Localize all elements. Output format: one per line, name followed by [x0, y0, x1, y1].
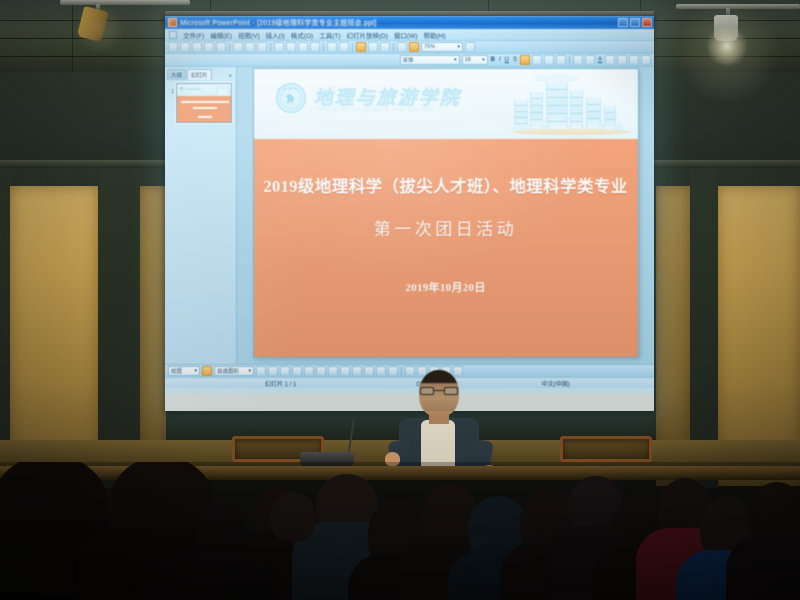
maximize-button[interactable] — [630, 18, 640, 27]
language-indicator[interactable]: 中文(中国) — [542, 379, 570, 388]
chevron-down-icon[interactable]: ▾ — [454, 57, 457, 63]
powerpoint-window[interactable]: Microsoft PowerPoint - [2019级地理科学类专业主题班会… — [165, 16, 654, 394]
print-icon[interactable] — [216, 42, 226, 52]
spotlight-right-on — [714, 15, 738, 41]
light-track-right — [676, 4, 800, 9]
school-name-en: School of Geography and Tourism — [316, 107, 435, 113]
slide-orange-banner: 2019级地理科学（拔尖人才班）、地理科学类专业 第一次团日活动 2019年10… — [254, 139, 638, 357]
window-controls[interactable] — [618, 18, 652, 27]
bullets-icon[interactable] — [573, 55, 583, 65]
school-name-cn: 地理与旅游学院 — [314, 83, 461, 110]
undo-icon[interactable] — [327, 42, 337, 52]
seal-emblem-icon — [284, 92, 297, 105]
cut-icon[interactable] — [274, 42, 284, 52]
diagram-icon[interactable] — [328, 366, 338, 376]
save-icon[interactable] — [192, 42, 202, 52]
menu-bar[interactable]: 文件(F) 编辑(E) 视图(V) 插入(I) 格式(O) 工具(T) 幻灯片放… — [165, 29, 654, 41]
menu-file[interactable]: 文件(F) — [183, 30, 204, 40]
menu-insert[interactable]: 插入(I) — [266, 30, 285, 40]
shadow-icon[interactable]: S — [512, 57, 518, 63]
draw-menu[interactable]: 绘图▾ — [168, 366, 200, 376]
increase-font-icon[interactable] — [605, 55, 615, 65]
powerpoint-icon — [168, 18, 177, 27]
font-size-combo[interactable]: 18 ▾ — [462, 55, 488, 65]
light-track-left — [60, 0, 190, 5]
bold-icon[interactable]: B — [490, 57, 496, 63]
menu-slideshow[interactable]: 幻灯片放映(D) — [347, 30, 389, 40]
show-formatting-icon[interactable] — [397, 42, 407, 52]
menu-tools[interactable]: 工具(T) — [319, 30, 340, 40]
font-color-icon[interactable]: A — [597, 57, 603, 63]
italic-icon[interactable]: I — [498, 57, 502, 63]
campus-building-illustration — [510, 73, 632, 139]
menu-edit[interactable]: 编辑(E) — [210, 30, 232, 40]
thumb-building-icon — [217, 86, 229, 95]
window-titlebar: Microsoft PowerPoint - [2019级地理科学类专业主题班会… — [165, 16, 654, 29]
slide-surface[interactable]: ★ ★ ★ ★ ★ 地理与旅游学院 School of Geography an… — [254, 69, 638, 357]
app-control-icon[interactable] — [169, 31, 177, 39]
underline-icon[interactable]: U — [504, 57, 510, 63]
projection-screen: Microsoft PowerPoint - [2019级地理科学类专业主题班会… — [165, 11, 654, 411]
chevron-down-icon[interactable]: ▾ — [457, 44, 460, 50]
chevron-down-icon[interactable]: ▾ — [194, 368, 197, 374]
slide-header-band: ★ ★ ★ ★ ★ 地理与旅游学院 School of Geography an… — [254, 69, 638, 139]
mail-icon[interactable] — [204, 42, 214, 52]
speaker-glasses — [420, 387, 458, 395]
picture-icon[interactable] — [352, 366, 362, 376]
lecture-hall-photo: Microsoft PowerPoint - [2019级地理科学类专业主题班会… — [0, 0, 800, 600]
thumb-seal-icon — [180, 87, 183, 90]
design-icon[interactable] — [629, 55, 639, 65]
format-painter-icon[interactable] — [310, 42, 320, 52]
help-icon[interactable] — [465, 42, 475, 52]
zoom-value: 75% — [424, 44, 435, 50]
align-right-icon[interactable] — [556, 55, 566, 65]
insert-chart-icon[interactable] — [368, 42, 378, 52]
menu-help[interactable]: 帮助(H) — [424, 30, 446, 40]
menu-window[interactable]: 窗口(W) — [394, 30, 417, 40]
standard-toolbar[interactable]: 75% ▾ — [165, 41, 654, 54]
fill-color-icon[interactable] — [364, 366, 374, 376]
tab-slides[interactable]: 幻灯片 — [187, 69, 212, 80]
close-button[interactable] — [642, 18, 652, 27]
tab-outline[interactable]: 大纲 — [167, 69, 186, 80]
slide-thumbnail-list[interactable]: 1 — [165, 80, 236, 126]
toolbar-options-icon[interactable] — [641, 55, 651, 65]
window-title: Microsoft PowerPoint - [2019级地理科学类专业主题班会… — [180, 18, 377, 28]
audience-silhouettes — [0, 462, 800, 600]
insert-table-icon[interactable] — [356, 42, 366, 52]
editor-body: 大纲 幻灯片 × 1 — [165, 67, 654, 364]
slide-subtitle: 第一次团日活动 — [254, 215, 638, 240]
screen-roller-bar — [165, 11, 654, 16]
autoshapes-menu[interactable]: 自选图形▾ — [214, 366, 254, 376]
slide-canvas[interactable]: ★ ★ ★ ★ ★ 地理与旅游学院 School of Geography an… — [237, 67, 654, 364]
chevron-down-icon[interactable]: ▾ — [248, 368, 251, 374]
highlight-icon[interactable] — [520, 55, 530, 65]
new-slide-icon[interactable] — [409, 42, 419, 52]
rectangle-icon[interactable] — [280, 366, 290, 376]
copy-icon[interactable] — [286, 42, 296, 52]
numbering-icon[interactable] — [585, 55, 595, 65]
chevron-down-icon[interactable]: ▾ — [482, 57, 485, 63]
slide-counter: 幻灯片 1 / 1 — [265, 379, 296, 388]
open-icon[interactable] — [180, 42, 190, 52]
font-name-value: 宋体 — [403, 56, 414, 64]
textbox-icon[interactable] — [304, 366, 314, 376]
paste-icon[interactable] — [298, 42, 308, 52]
font-name-combo[interactable]: 宋体 ▾ — [400, 55, 460, 65]
thumbnail-number: 1 — [169, 83, 174, 95]
select-objects-icon[interactable] — [202, 366, 212, 376]
new-icon[interactable] — [168, 42, 178, 52]
pane-tab-strip[interactable]: 大纲 幻灯片 × — [165, 67, 236, 80]
seal-stars: ★ ★ ★ ★ ★ — [277, 86, 305, 91]
oval-icon[interactable] — [292, 366, 302, 376]
font-size-value: 18 — [465, 57, 471, 63]
line-color-icon[interactable] — [376, 366, 386, 376]
line-icon[interactable] — [256, 366, 266, 376]
slide-thumbnail-1[interactable] — [176, 83, 232, 123]
university-seal-icon: ★ ★ ★ ★ ★ — [276, 83, 306, 113]
slides-outline-pane[interactable]: 大纲 幻灯片 × 1 — [165, 67, 237, 364]
hyperlink-icon[interactable] — [380, 42, 390, 52]
minimize-button[interactable] — [618, 18, 628, 27]
wordart-icon[interactable] — [316, 366, 326, 376]
align-left-icon[interactable] — [532, 55, 542, 65]
slide-date: 2019年10月20日 — [254, 279, 638, 295]
menu-view[interactable]: 视图(V) — [238, 30, 260, 40]
thumbnail-row[interactable]: 1 — [169, 83, 232, 123]
menu-format[interactable]: 格式(O) — [291, 30, 313, 40]
align-center-icon[interactable] — [544, 55, 554, 65]
spelling-icon[interactable] — [245, 42, 255, 52]
arrow-icon[interactable] — [268, 366, 278, 376]
formatting-toolbar[interactable]: 宋体 ▾ 18 ▾ B I U S A — [165, 54, 654, 67]
slide-title: 2019级地理科学（拔尖人才班）、地理科学类专业 — [254, 173, 638, 197]
print-preview-icon[interactable] — [233, 42, 243, 52]
zoom-combo[interactable]: 75% ▾ — [421, 42, 463, 52]
clipart-icon[interactable] — [340, 366, 350, 376]
close-pane-icon[interactable]: × — [228, 74, 234, 80]
research-icon[interactable] — [257, 42, 267, 52]
decrease-font-icon[interactable] — [617, 55, 627, 65]
redo-icon[interactable] — [339, 42, 349, 52]
